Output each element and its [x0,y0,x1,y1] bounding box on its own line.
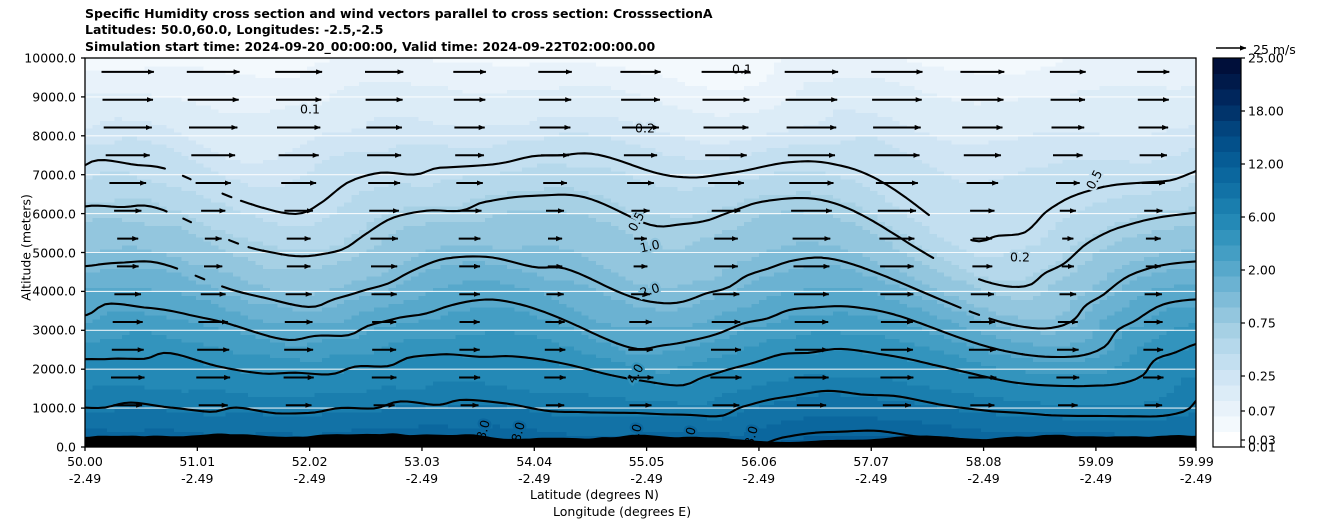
cross-section-plot: 0.10.10.20.20.50.51.02.04.08.08.08.08.08… [0,0,1326,526]
colorbar [1213,58,1245,448]
